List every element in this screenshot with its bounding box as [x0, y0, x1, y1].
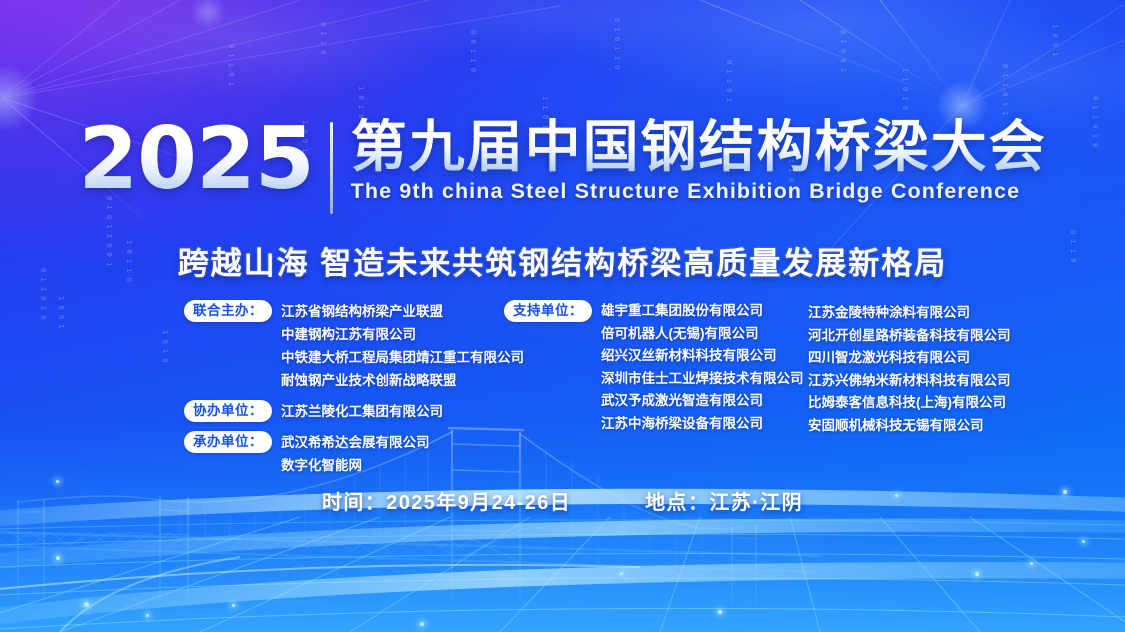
co-host-entries: 江苏省钢结构桥梁产业联盟 中建钢构江苏有限公司 中铁建大桥工程局集团靖江重工有限… — [281, 300, 524, 392]
supporters-entries-col2: 江苏金陵特种涂料有限公司 河北开创星路桥装备科技有限公司 四川智龙激光科技有限公… — [808, 302, 1039, 437]
footer-info: 时间：2025年9月24-26日 地点：江苏·江阴 — [0, 486, 1125, 515]
organizers-block: 联合主办： 江苏省钢结构桥梁产业联盟 中建钢构江苏有限公司 中铁建大桥工程局集团… — [184, 300, 1064, 477]
list-item: 耐蚀钢产业技术创新战略联盟 — [281, 369, 524, 392]
list-item: 河北开创星路桥装备科技有限公司 — [808, 325, 1039, 348]
list-item: 江苏中海桥梁设备有限公司 — [601, 413, 804, 436]
organizers-right-column: 江苏金陵特种涂料有限公司 河北开创星路桥装备科技有限公司 四川智龙激光科技有限公… — [799, 300, 1039, 437]
list-item: 深圳市佳士工业焊接技术有限公司 — [601, 368, 804, 391]
list-item: 四川智龙激光科技有限公司 — [808, 347, 1039, 370]
supporters-group: 支持单位： 雄宇重工集团股份有限公司 倍可机器人(无锡)有限公司 绍兴汉丝新材料… — [504, 300, 799, 435]
list-item: 安固顺机械科技无锡有限公司 — [808, 415, 1039, 438]
co-organizer-group: 协办单位： 江苏兰陵化工集团有限公司 — [184, 400, 504, 423]
organizers-middle-column: 支持单位： 雄宇重工集团股份有限公司 倍可机器人(无锡)有限公司 绍兴汉丝新材料… — [504, 300, 799, 435]
conference-banner: 0 1 1 0 1 0 1 0 0 1 0 1 0 1 1 0 0 1 1 0 … — [0, 0, 1125, 632]
list-item: 武汉希希达会展有限公司 — [281, 431, 430, 454]
list-item: 中建钢构江苏有限公司 — [281, 323, 524, 346]
page-title-english: The 9th china Steel Structure Exhibition… — [351, 179, 1047, 204]
list-item: 江苏兴佛纳米新材料科技有限公司 — [808, 370, 1039, 393]
page-title: 第九届中国钢结构桥梁大会 — [351, 118, 1047, 176]
co-organizer-label: 协办单位： — [184, 400, 272, 422]
list-item: 倍可机器人(无锡)有限公司 — [601, 323, 804, 346]
year-2025: 2025 — [78, 118, 329, 201]
list-item: 绍兴汉丝新材料科技有限公司 — [601, 345, 804, 368]
list-item: 江苏金陵特种涂料有限公司 — [808, 302, 1039, 325]
event-location: 地点：江苏·江阴 — [645, 486, 803, 515]
co-organizer-entries: 江苏兰陵化工集团有限公司 — [281, 400, 443, 423]
event-date: 时间：2025年9月24-26日 — [322, 486, 571, 515]
list-item: 雄宇重工集团股份有限公司 — [601, 300, 804, 323]
supporters-entries-col1: 雄宇重工集团股份有限公司 倍可机器人(无锡)有限公司 绍兴汉丝新材料科技有限公司… — [601, 300, 804, 435]
co-host-label: 联合主办： — [184, 300, 272, 322]
list-item: 中铁建大桥工程局集团靖江重工有限公司 — [281, 346, 524, 369]
undertaker-label: 承办单位： — [184, 431, 272, 453]
co-host-group: 联合主办： 江苏省钢结构桥梁产业联盟 中建钢构江苏有限公司 中铁建大桥工程局集团… — [184, 300, 504, 392]
undertaker-group: 承办单位： 武汉希希达会展有限公司 数字化智能网 — [184, 431, 504, 477]
supporters-label: 支持单位： — [504, 300, 592, 322]
list-item: 江苏省钢结构桥梁产业联盟 — [281, 300, 524, 323]
list-item: 数字化智能网 — [281, 454, 430, 477]
slogan: 跨越山海 智造未来共筑钢结构桥梁高质量发展新格局 — [0, 238, 1125, 283]
list-item: 武汉予成激光智造有限公司 — [601, 390, 804, 413]
title-row: 2025 第九届中国钢结构桥梁大会 The 9th china Steel St… — [0, 118, 1125, 214]
list-item: 江苏兰陵化工集团有限公司 — [281, 400, 443, 423]
list-item: 比姆泰客信息科技(上海)有限公司 — [808, 392, 1039, 415]
organizers-left-column: 联合主办： 江苏省钢结构桥梁产业联盟 中建钢构江苏有限公司 中铁建大桥工程局集团… — [184, 300, 504, 477]
undertaker-entries: 武汉希希达会展有限公司 数字化智能网 — [281, 431, 430, 477]
